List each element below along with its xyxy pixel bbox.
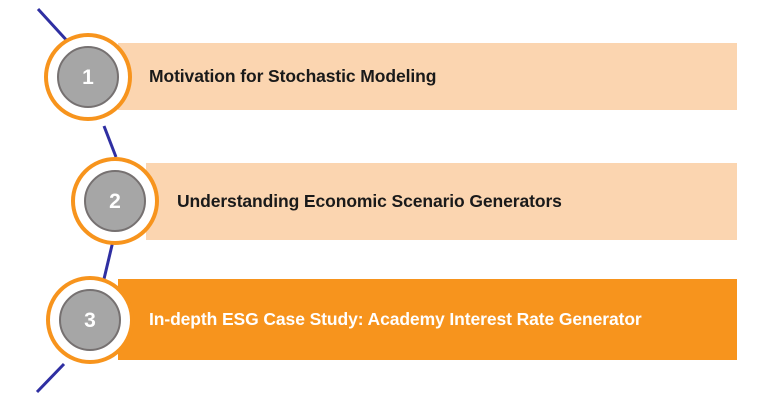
step-number-3: 3	[84, 310, 96, 331]
step-number-2: 2	[109, 191, 121, 212]
step-marker-inner-3: 3	[59, 289, 121, 351]
connector-bottom-line	[37, 364, 64, 392]
step-label-2: Understanding Economic Scenario Generato…	[177, 191, 562, 212]
step-band-2[interactable]: Understanding Economic Scenario Generato…	[146, 163, 737, 240]
connector-1-to-2-line	[104, 126, 116, 157]
slide-canvas: Motivation for Stochastic Modeling Under…	[0, 0, 772, 400]
step-marker-inner-2: 2	[84, 170, 146, 232]
step-band-3[interactable]: In-depth ESG Case Study: Academy Interes…	[118, 279, 737, 360]
step-marker-3[interactable]: 3	[46, 276, 134, 364]
connector-2-to-3-line	[104, 241, 113, 279]
step-number-1: 1	[82, 67, 94, 88]
step-marker-2[interactable]: 2	[71, 157, 159, 245]
step-marker-inner-1: 1	[57, 46, 119, 108]
step-label-3: In-depth ESG Case Study: Academy Interes…	[149, 309, 642, 330]
step-band-1[interactable]: Motivation for Stochastic Modeling	[118, 43, 737, 110]
step-marker-1[interactable]: 1	[44, 33, 132, 121]
step-label-1: Motivation for Stochastic Modeling	[149, 66, 436, 87]
